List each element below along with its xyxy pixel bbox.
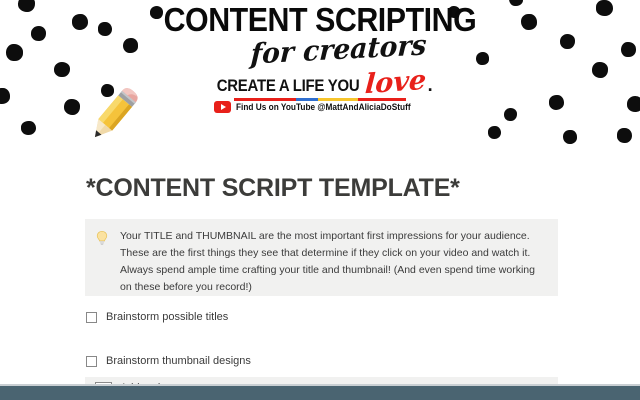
banner-header: CONTENT SCRIPTING for creators CREATE A … bbox=[0, 0, 640, 152]
checkbox-brainstorm-titles[interactable] bbox=[86, 312, 97, 323]
callout-text: Your TITLE and THUMBNAIL are the most im… bbox=[115, 228, 546, 296]
banner-script-subtitle: for creators bbox=[250, 30, 427, 70]
underline-segment-1 bbox=[296, 98, 318, 101]
banner-title: CONTENT SCRIPTING bbox=[164, 3, 477, 36]
underline-segment-0 bbox=[234, 98, 296, 101]
tagline-period: . bbox=[428, 75, 433, 96]
youtube-handle-row: Find Us on YouTube @MattAndAliciaDoStuff bbox=[214, 101, 426, 113]
checklist-label: Brainstorm thumbnail designs bbox=[106, 355, 251, 367]
youtube-play-icon bbox=[214, 101, 231, 113]
tagline-accent-text: love bbox=[365, 70, 428, 96]
checkbox-brainstorm-thumbnails[interactable] bbox=[86, 356, 97, 367]
page-root: CONTENT SCRIPTING for creators CREATE A … bbox=[0, 0, 640, 400]
checklist-item-0[interactable]: Brainstorm possible titles bbox=[86, 311, 228, 323]
checklist-item-1[interactable]: Brainstorm thumbnail designs bbox=[86, 355, 251, 367]
banner-tagline: CREATE A LIFE YOU love . bbox=[207, 72, 432, 96]
page-title: *CONTENT SCRIPT TEMPLATE* bbox=[86, 174, 460, 203]
document-body: *CONTENT SCRIPT TEMPLATE* Your TITLE and… bbox=[0, 152, 640, 384]
pencil-icon bbox=[78, 88, 144, 148]
underline-segment-2 bbox=[318, 98, 358, 101]
bottom-bar bbox=[0, 386, 640, 400]
tagline-main-text: CREATE A LIFE YOU bbox=[217, 76, 360, 96]
checklist-label: Brainstorm possible titles bbox=[106, 311, 228, 323]
youtube-handle-label: Find Us on YouTube @MattAndAliciaDoStuff bbox=[236, 102, 411, 112]
lightbulb-icon bbox=[95, 228, 115, 296]
callout-box: Your TITLE and THUMBNAIL are the most im… bbox=[85, 219, 558, 296]
